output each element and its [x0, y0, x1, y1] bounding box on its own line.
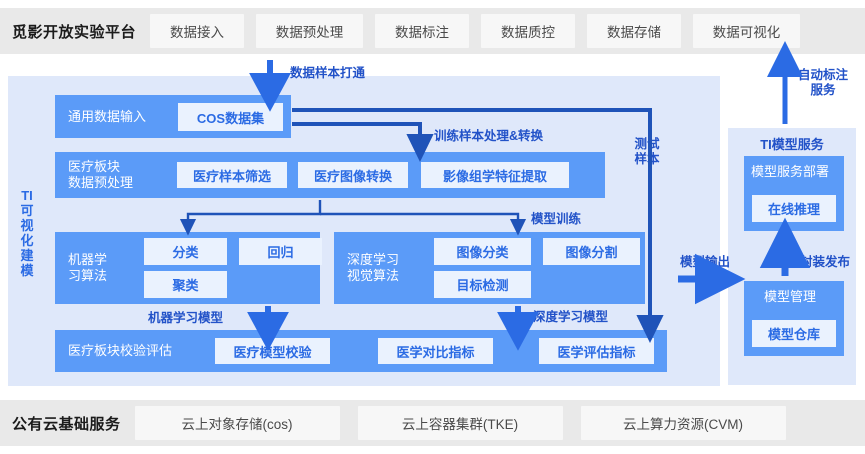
chip-object-detection[interactable]: 目标检测: [434, 271, 531, 298]
chip-medical-comparison-metrics[interactable]: 医学对比指标: [378, 338, 493, 364]
footer-item-cos[interactable]: 云上对象存储(cos): [135, 406, 340, 440]
footer-title: 公有云基础服务: [12, 413, 121, 434]
flow-label-data-sample: 数据样本打通: [290, 66, 365, 81]
header-item-2[interactable]: 数据标注: [375, 14, 469, 48]
machine-learning-algorithm-label: 机器学 习算法: [55, 252, 115, 284]
chip-medical-image-convert[interactable]: 医疗图像转换: [298, 162, 408, 188]
model-service-deploy-block: 模型服务部署 在线推理: [744, 156, 844, 231]
header-item-5[interactable]: 数据可视化: [693, 14, 800, 48]
chip-classification[interactable]: 分类: [144, 238, 227, 265]
footer-items: 云上对象存储(cos) 云上容器集群(TKE) 云上算力资源(CVM): [135, 406, 786, 440]
header-item-3[interactable]: 数据质控: [481, 14, 575, 48]
deep-learning-vision-algorithm-block: 深度学习 视觉算法 图像分类 图像分割 目标检测: [334, 232, 645, 304]
flow-label-model-training: 模型训练: [531, 212, 581, 227]
general-data-input-block: 通用数据输入 COS数据集: [55, 95, 291, 138]
flow-label-model-output: 模型输出: [680, 255, 730, 270]
chip-model-repository[interactable]: 模型仓库: [752, 320, 836, 347]
ti-panel-side-label: TI 可 视 化 建 模: [18, 188, 36, 278]
medical-preprocess-label: 医疗板块 数据预处理: [55, 159, 141, 191]
chip-image-segmentation[interactable]: 图像分割: [543, 238, 640, 265]
chip-medical-evaluation-metrics[interactable]: 医学评估指标: [539, 338, 654, 364]
model-management-label: 模型管理: [744, 281, 844, 305]
chip-online-inference[interactable]: 在线推理: [752, 195, 836, 222]
page-title: 觅影开放实验平台: [12, 21, 136, 42]
model-service-deploy-label: 模型服务部署: [744, 156, 844, 180]
header-item-1[interactable]: 数据预处理: [256, 14, 363, 48]
flow-label-auto-annotation: 自动标注 服务: [793, 68, 853, 98]
header-item-4[interactable]: 数据存储: [587, 14, 681, 48]
ti-model-service-title: TI模型服务: [728, 134, 856, 153]
footer-bar: 公有云基础服务 云上对象存储(cos) 云上容器集群(TKE) 云上算力资源(C…: [0, 400, 865, 446]
header-bar: 觅影开放实验平台 数据接入 数据预处理 数据标注 数据质控 数据存储 数据可视化: [0, 8, 865, 54]
chip-image-classification[interactable]: 图像分类: [434, 238, 531, 265]
chip-medical-model-validation[interactable]: 医疗模型校验: [215, 338, 330, 364]
chip-radiomics-feature-extraction[interactable]: 影像组学特征提取: [421, 162, 569, 188]
medical-preprocess-block: 医疗板块 数据预处理 医疗样本筛选 医疗图像转换 影像组学特征提取: [55, 152, 605, 198]
chip-medical-sample-filter[interactable]: 医疗样本筛选: [177, 162, 287, 188]
flow-label-test-sample: 测试 样本: [630, 137, 664, 167]
machine-learning-algorithm-block: 机器学 习算法 分类 回归 聚类: [55, 232, 320, 304]
header-nav: 数据接入 数据预处理 数据标注 数据质控 数据存储 数据可视化: [150, 14, 800, 48]
chip-regression[interactable]: 回归: [239, 238, 322, 265]
flow-label-dl-model: 深度学习模型: [533, 310, 608, 325]
deep-learning-vision-algorithm-label: 深度学习 视觉算法: [334, 252, 407, 284]
chip-cos-dataset[interactable]: COS数据集: [178, 103, 283, 131]
footer-item-tke[interactable]: 云上容器集群(TKE): [358, 406, 563, 440]
medical-validation-evaluation-label: 医疗板块校验评估: [55, 343, 180, 359]
medical-validation-evaluation-block: 医疗板块校验评估 医疗模型校验 医学对比指标 医学评估指标: [55, 330, 667, 372]
flow-label-package-publish: 封装发布: [800, 255, 850, 270]
header-item-0[interactable]: 数据接入: [150, 14, 244, 48]
model-management-block: 模型管理 模型仓库: [744, 281, 844, 356]
footer-item-cvm[interactable]: 云上算力资源(CVM): [581, 406, 786, 440]
chip-clustering[interactable]: 聚类: [144, 271, 227, 298]
flow-label-ml-model: 机器学习模型: [148, 311, 223, 326]
general-data-input-label: 通用数据输入: [55, 109, 154, 125]
flow-label-train-transform: 训练样本处理&转换: [434, 129, 543, 144]
